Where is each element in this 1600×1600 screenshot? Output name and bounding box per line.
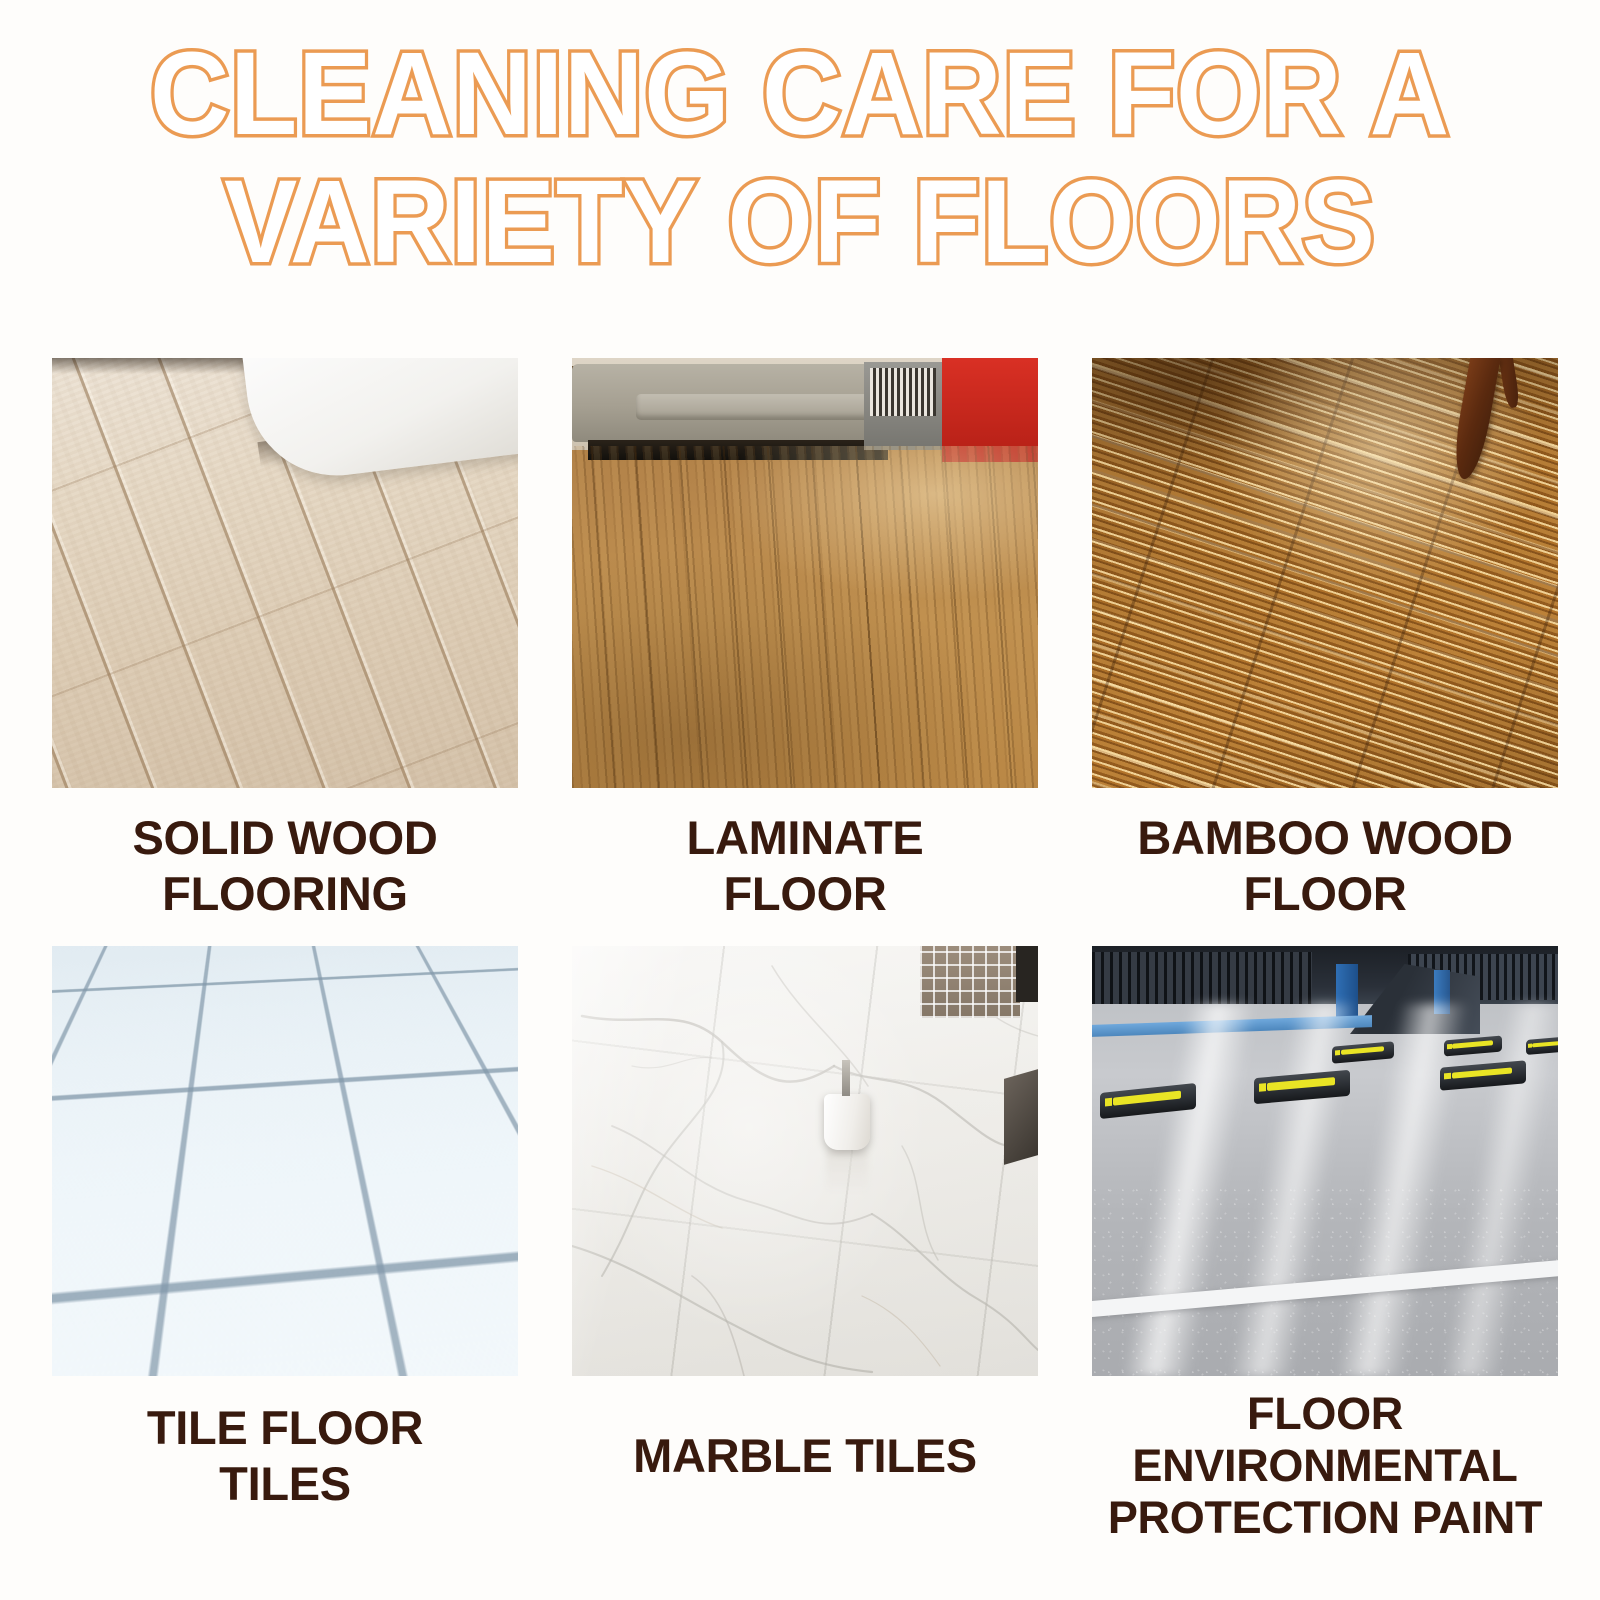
floor-card-label: FLOOR ENVIRONMENTAL PROTECTION PAINT <box>1092 1376 1558 1544</box>
floor-card-label: MARBLE TILES <box>572 1376 1038 1484</box>
floor-card-marble-tiles[interactable]: MARBLE TILES <box>572 946 1038 1544</box>
floor-types-row-1: SOLID WOOD FLOORING LAMINATE FLOOR <box>52 358 1548 922</box>
grey-sofa <box>572 364 884 442</box>
wheel-stop <box>1526 1036 1558 1055</box>
floor-care-infographic: CLEANING CARE FOR A VARIETY OF FLOORS SO… <box>0 0 1600 1600</box>
floor-types-grid: SOLID WOOD FLOORING LAMINATE FLOOR <box>52 358 1548 1544</box>
title-line-2: VARIETY OF FLOORS <box>56 158 1544 286</box>
title-line-1: CLEANING CARE FOR A <box>56 30 1544 158</box>
laminate-floor-photo <box>572 358 1038 788</box>
tile-floor-tiles-photo <box>52 946 518 1376</box>
floor-environmental-protection-paint-photo <box>1092 946 1558 1376</box>
floor-card-label: LAMINATE FLOOR <box>572 788 1038 922</box>
floor-card-tile-floor-tiles[interactable]: TILE FLOOR TILES <box>52 946 518 1544</box>
floor-card-floor-environmental-protection-paint[interactable]: FLOOR ENVIRONMENTAL PROTECTION PAINT <box>1092 946 1558 1544</box>
floor-card-laminate-floor[interactable]: LAMINATE FLOOR <box>572 358 1038 922</box>
marble-tiles-photo <box>572 946 1038 1376</box>
page-title: CLEANING CARE FOR A VARIETY OF FLOORS <box>0 30 1600 286</box>
background-rack-left <box>1092 952 1312 1004</box>
floor-card-solid-wood-flooring[interactable]: SOLID WOOD FLOORING <box>52 358 518 922</box>
book-shelf <box>864 362 942 450</box>
solid-wood-flooring-photo <box>52 358 518 788</box>
bamboo-wood-floor-photo <box>1092 358 1558 788</box>
vase-reflection <box>826 1150 868 1194</box>
floor-sheen <box>572 446 1038 788</box>
dark-corner <box>1016 946 1038 1002</box>
floor-card-bamboo-wood-floor[interactable]: BAMBOO WOOD FLOOR <box>1092 358 1558 922</box>
tile-highlight <box>52 946 518 1376</box>
floor-card-label: BAMBOO WOOD FLOOR <box>1092 788 1558 922</box>
dark-step <box>1004 1069 1038 1165</box>
white-vase <box>824 1094 870 1150</box>
floor-types-row-2: TILE FLOOR TILES <box>52 946 1548 1544</box>
floor-card-label: TILE FLOOR TILES <box>52 1376 518 1512</box>
mosaic-wall <box>920 946 1020 1018</box>
floor-card-label: SOLID WOOD FLOORING <box>52 788 518 922</box>
